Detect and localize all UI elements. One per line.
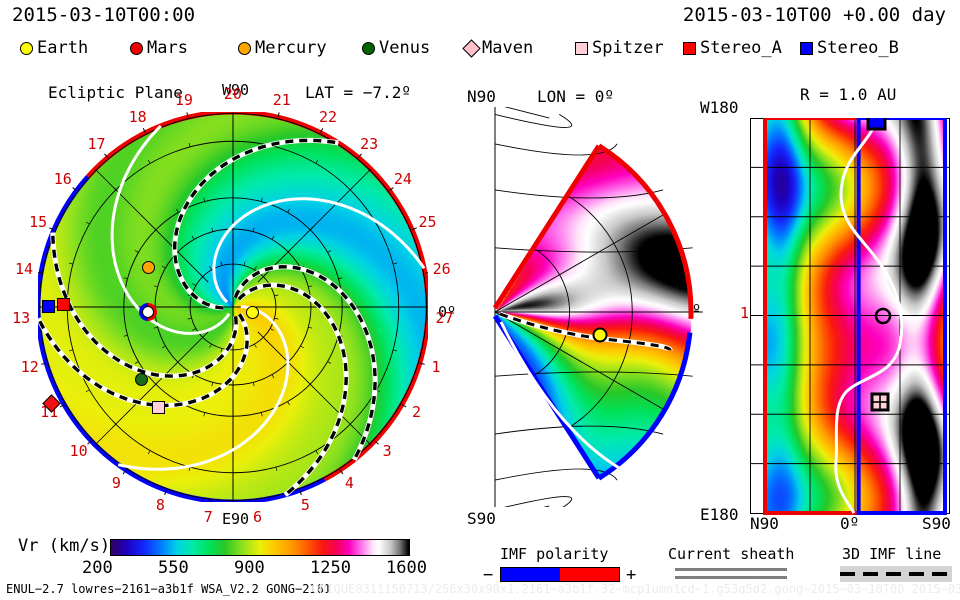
- ecliptic-overlay: [38, 112, 428, 502]
- ecliptic-ring-label-3: 3: [383, 442, 392, 460]
- map-bottom-label-2: S90: [922, 514, 951, 533]
- ecliptic-ring-label-18: 18: [129, 108, 147, 126]
- ecliptic-lat-label: LAT = −7.2º: [305, 83, 411, 102]
- map-title: R = 1.0 AU: [800, 85, 896, 104]
- legend-marker-stereo_b-icon: [800, 42, 813, 55]
- legend-label-stereo_b: Stereo_B: [817, 38, 899, 58]
- ecliptic-marker-earth: [246, 306, 259, 319]
- imf-polarity-bar: [500, 567, 620, 582]
- map-overlay: [750, 118, 950, 518]
- colorbar-tick-1: 550: [158, 558, 189, 578]
- ecliptic-ring-label-22: 22: [319, 108, 337, 126]
- ecliptic-marker-stereo_a: [57, 298, 70, 311]
- legend-label-venus: Venus: [379, 38, 430, 58]
- ecliptic-ring-label-13: 13: [12, 309, 30, 327]
- ecliptic-ring-label-5: 5: [301, 496, 310, 514]
- legend-item-mercury: Mercury: [238, 36, 327, 60]
- ecliptic-ring-label-26: 26: [433, 260, 451, 278]
- legend-label-spitzer: Spitzer: [592, 38, 664, 58]
- colorbar-tick-4: 1600: [386, 558, 427, 578]
- legend-item-maven: Maven: [465, 36, 533, 60]
- imf-line-glyph: [840, 566, 952, 582]
- ecliptic-ring-label-7: 7: [204, 508, 213, 526]
- ecliptic-ring-label-17: 17: [88, 135, 106, 153]
- legend-label-maven: Maven: [482, 38, 533, 58]
- footer-credit: ENUL−2.7 lowres−2161−a3b1f WSA_V2.2 GONG…: [6, 582, 331, 596]
- ecliptic-title: Ecliptic Plane: [48, 83, 183, 102]
- colorbar-tick-2: 900: [234, 558, 265, 578]
- ecliptic-ring-label-1: 1: [431, 358, 440, 376]
- panel-radius-map: R = 1.0 AU W180 E180 1 N900ºS90: [690, 85, 960, 545]
- ecliptic-ring-label-4: 4: [345, 474, 354, 492]
- map-bottom-label-0: N90: [750, 514, 779, 533]
- legend-marker-spitzer-icon: [575, 42, 588, 55]
- legend-label-mars: Mars: [147, 38, 188, 58]
- legend-marker-maven-icon: [462, 39, 480, 57]
- colorbar-tick-0: 200: [82, 558, 113, 578]
- current-sheath-title: Current sheath: [668, 545, 794, 563]
- legend-marker-mars-icon: [130, 42, 143, 55]
- body-legend: EarthMarsMercuryVenusMavenSpitzerStereo_…: [10, 36, 950, 60]
- legend-item-stereo_b: Stereo_B: [800, 36, 899, 60]
- imf-polarity-title: IMF polarity: [500, 545, 608, 563]
- map-w180-label: W180: [700, 98, 739, 117]
- colorbar: [110, 539, 410, 556]
- ecliptic-marker-venus: [135, 373, 148, 386]
- meridional-title: LON = 0º: [537, 87, 614, 106]
- ecliptic-ring-label-16: 16: [54, 170, 72, 188]
- ecliptic-ring-label-25: 25: [418, 213, 436, 231]
- ecliptic-ring-label-14: 14: [15, 260, 33, 278]
- ecliptic-ring-label-23: 23: [360, 135, 378, 153]
- ecliptic-ring-label-19: 19: [175, 91, 193, 109]
- ecliptic-ring-label-24: 24: [394, 170, 412, 188]
- ecliptic-marker-mercury: [142, 261, 155, 274]
- ecliptic-ring-label-15: 15: [29, 213, 47, 231]
- ecliptic-bottom-label: E90: [222, 510, 249, 528]
- imf-negative-swatch: [501, 568, 560, 581]
- panel-ecliptic-plane: Ecliptic Plane LAT = −7.2º W90 E90 0º 12…: [0, 85, 460, 535]
- panel-meridional-plane: N90 LON = 0º S90 0º: [455, 85, 705, 545]
- map-e180-label: E180: [700, 505, 739, 524]
- legend-marker-venus-icon: [362, 42, 375, 55]
- ecliptic-ring-label-6: 6: [253, 508, 262, 526]
- meridional-n90-label: N90: [467, 87, 496, 106]
- legend-label-earth: Earth: [37, 38, 88, 58]
- ecliptic-marker-stereo_b: [42, 300, 55, 313]
- imf-line-title: 3D IMF line: [842, 545, 941, 563]
- legend-item-spitzer: Spitzer: [575, 36, 664, 60]
- ecliptic-marker-sun: [139, 303, 157, 321]
- legend-item-venus: Venus: [362, 36, 430, 60]
- ecliptic-ring-label-21: 21: [273, 91, 291, 109]
- footer-watermark: UNIQUE0311150713/256x30x90x1.2161−a3b1f.…: [312, 582, 960, 596]
- ecliptic-marker-spitzer: [152, 401, 165, 414]
- imf-positive-swatch: [560, 568, 619, 581]
- legend-item-mars: Mars: [130, 36, 188, 60]
- meridional-overlay: [455, 107, 705, 507]
- legend-marker-stereo_a-icon: [683, 42, 696, 55]
- ecliptic-ring-label-12: 12: [21, 358, 39, 376]
- legend-label-stereo_a: Stereo_A: [700, 38, 782, 58]
- ecliptic-ring-label-8: 8: [156, 496, 165, 514]
- header-timestamp-right: 2015-03-10T00 +0.00 day: [683, 4, 946, 26]
- header-timestamp-left: 2015-03-10T00:00: [12, 4, 195, 26]
- ecliptic-ring-label-20: 20: [224, 85, 242, 103]
- ecliptic-ring-label-9: 9: [112, 474, 121, 492]
- legend-marker-mercury-icon: [238, 42, 251, 55]
- ecliptic-ring-label-2: 2: [412, 403, 421, 421]
- legend-item-stereo_a: Stereo_A: [683, 36, 782, 60]
- colorbar-title: Vr (km/s): [18, 536, 110, 556]
- ecliptic-ring-label-27: 27: [435, 309, 453, 327]
- legend-marker-earth-icon: [20, 42, 33, 55]
- map-bottom-label-1: 0º: [840, 514, 859, 533]
- legend-label-mercury: Mercury: [255, 38, 327, 58]
- map-left-axis-label: 1: [740, 304, 749, 322]
- current-sheath-glyph: [675, 568, 787, 580]
- legend-item-earth: Earth: [20, 36, 88, 60]
- meridional-s90-label: S90: [467, 509, 496, 528]
- ecliptic-ring-label-10: 10: [70, 442, 88, 460]
- colorbar-tick-3: 1250: [310, 558, 351, 578]
